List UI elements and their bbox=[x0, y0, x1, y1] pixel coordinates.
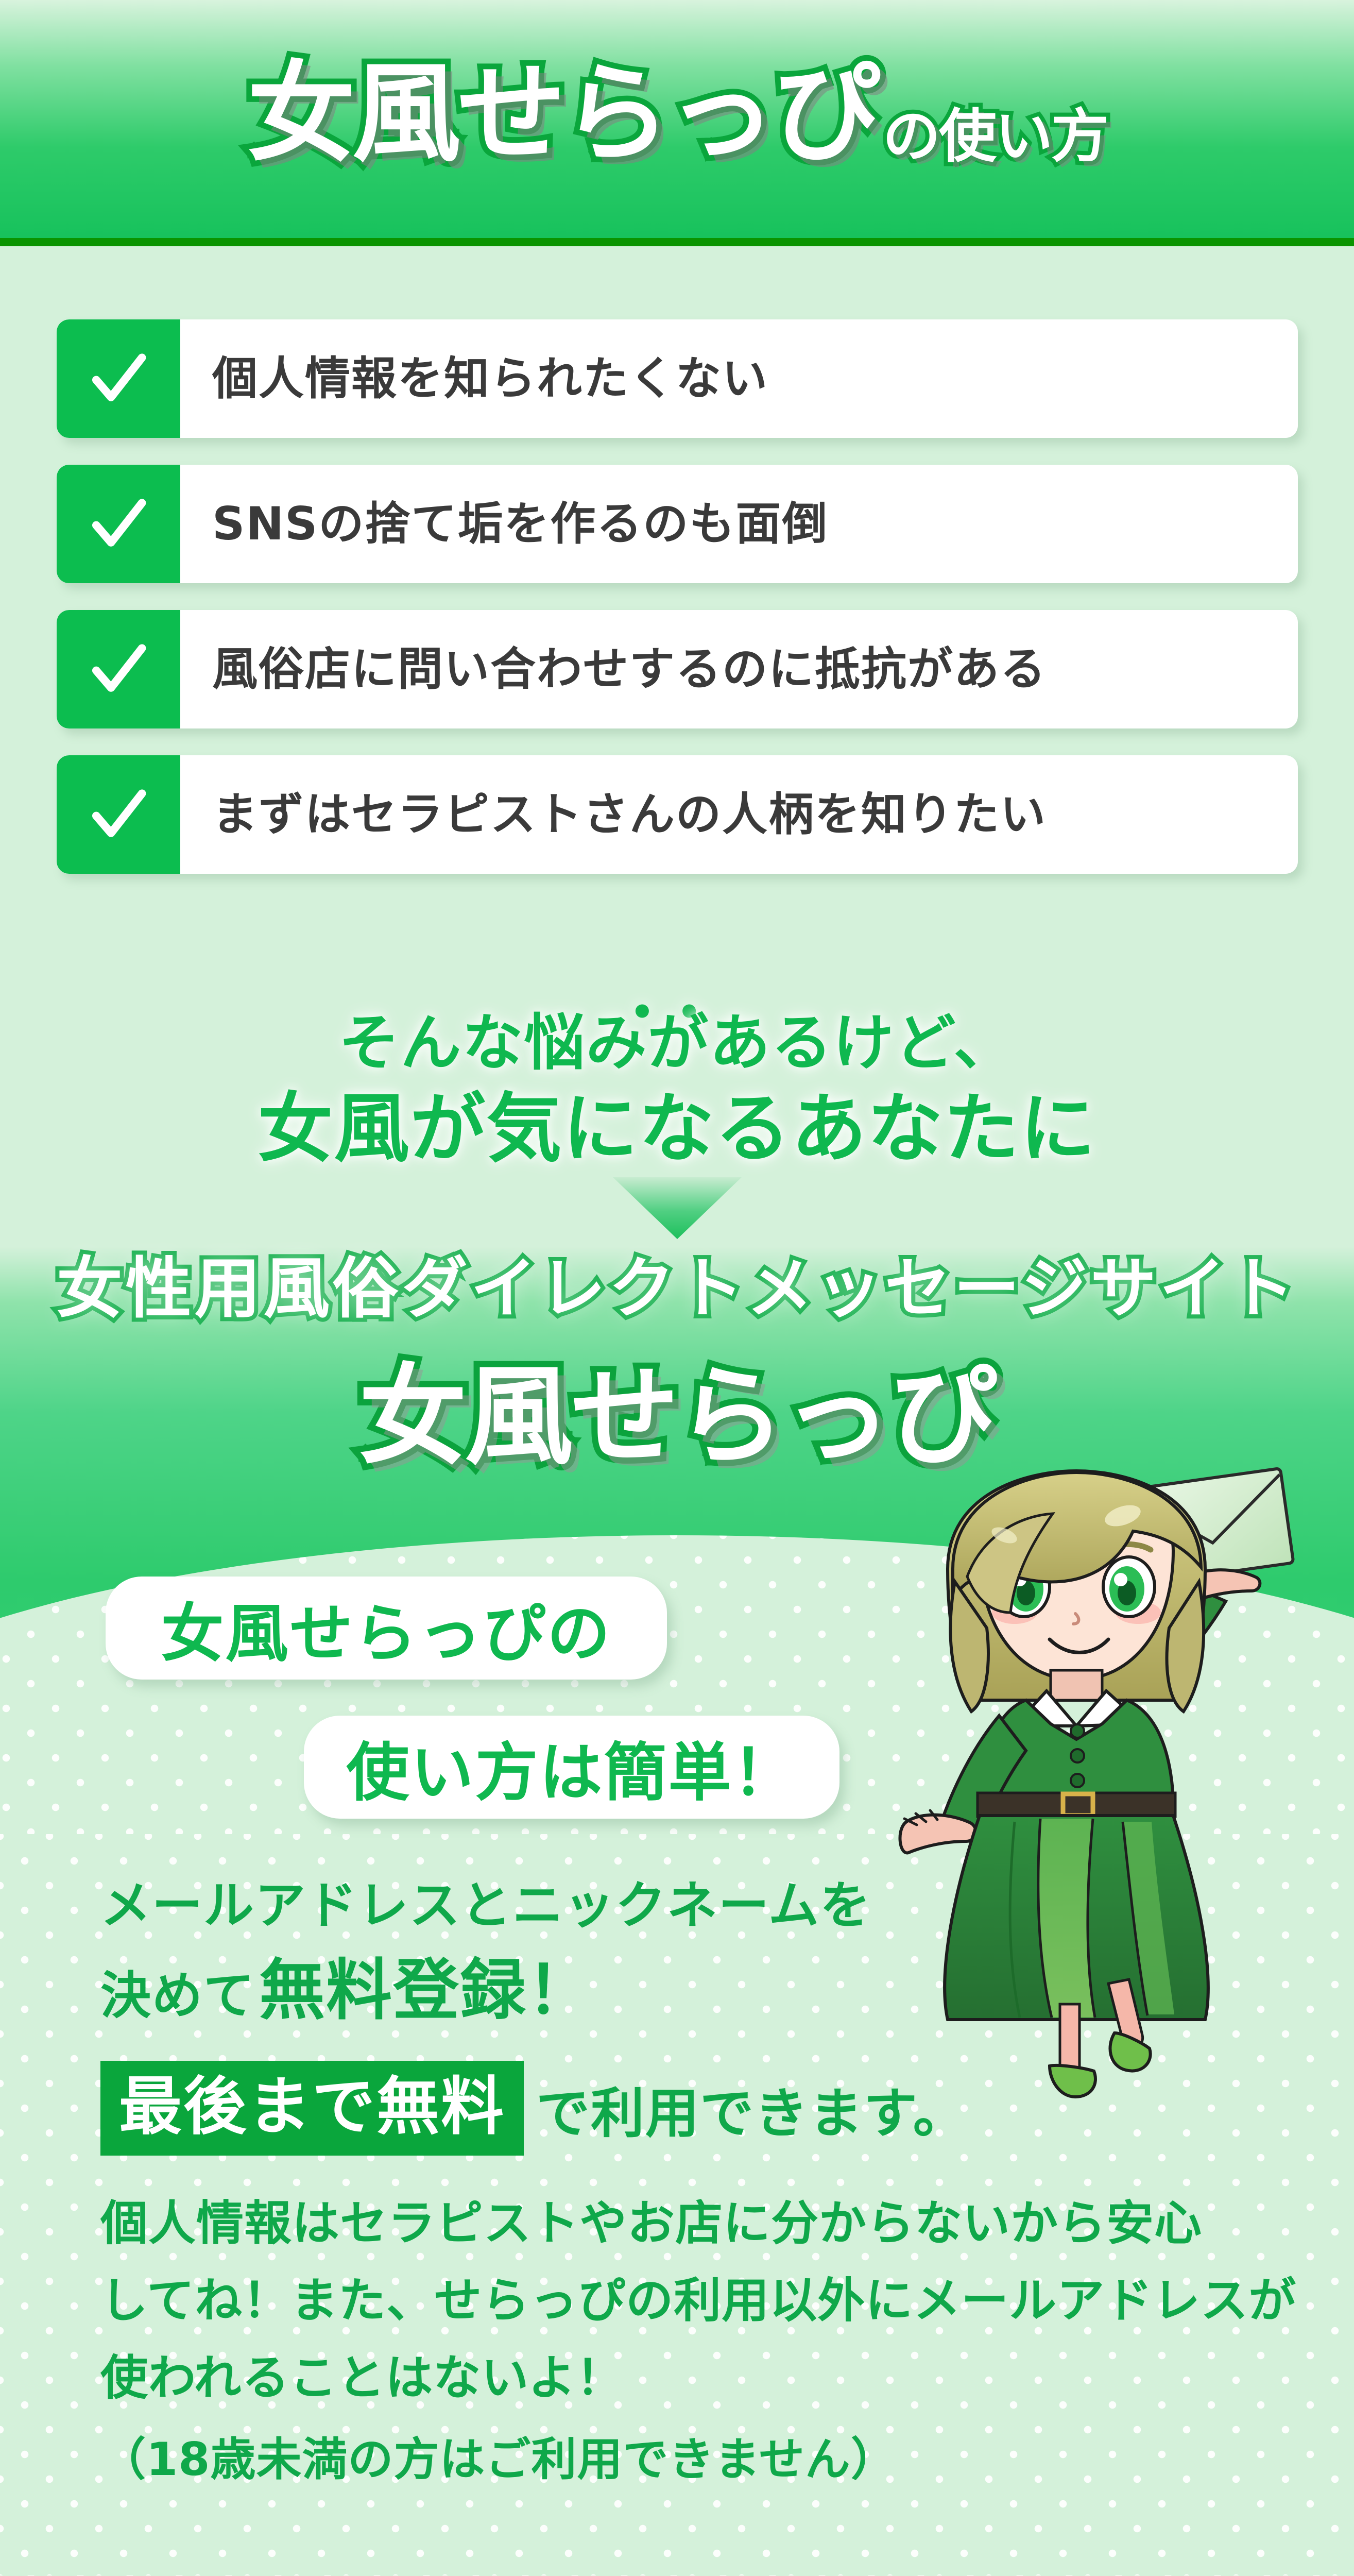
paragraph-line-1: 個人情報はセラピストやお店に分からないから安心 bbox=[100, 2200, 1202, 2247]
transition-line-1: そんな悩みがあるけど、 bbox=[0, 1012, 1354, 1073]
checklist-item-label: 風俗店に問い合わせするのに抵抗がある bbox=[180, 647, 1298, 692]
bubble-line-2: 使い方は簡単！ bbox=[304, 1716, 839, 1819]
serapi-mascot-girl bbox=[845, 1458, 1308, 2128]
paragraph-highlight-2: せらっぴの利用以外にメールアドレスが bbox=[434, 2277, 1296, 2325]
free-badge-row: 最後まで無料 で利用できます。 bbox=[100, 2061, 968, 2156]
checklist-item-label: まずはセラピストさんの人柄を知りたい bbox=[180, 792, 1298, 837]
copy-line-2-prefix: 決めて bbox=[100, 1971, 255, 2021]
checklist-item-label: SNSの捨て垢を作るのも面倒 bbox=[180, 501, 1298, 547]
copy-line-1: メールアドレスとニックネームを bbox=[100, 1880, 871, 1931]
transition-line-2: 女風が気になるあなたに bbox=[0, 1091, 1354, 1166]
check-mark-icon bbox=[57, 319, 180, 438]
paragraph-line-2: してね！また、せらっぴの利用以外にメールアドレスが bbox=[100, 2277, 1296, 2325]
checklist-item-2[interactable]: SNSの捨て垢を作るのも面倒 bbox=[57, 465, 1298, 583]
copy-line-2: 決めて無料登録！ bbox=[100, 1958, 594, 2024]
free-badge: 最後まで無料 bbox=[100, 2061, 524, 2156]
checklist-item-4[interactable]: まずはセラピストさんの人柄を知りたい bbox=[57, 755, 1298, 874]
paragraph-plain-2: してね！また、 bbox=[100, 2273, 434, 2328]
header-logo-main: 女風せらっぴ bbox=[247, 26, 878, 182]
hero-logo-title: 女風せらっぴ bbox=[0, 1360, 1354, 1474]
copy-free-register-highlight: 無料登録！ bbox=[259, 1958, 594, 2024]
check-mark-icon bbox=[57, 755, 180, 874]
check-mark-icon bbox=[57, 465, 180, 583]
eye-right bbox=[1103, 1557, 1155, 1617]
checklist-item-1[interactable]: 個人情報を知られたくない bbox=[57, 319, 1298, 438]
header-logo-suffix: の使い方 bbox=[883, 90, 1107, 173]
checklist-item-label: 個人情報を知られたくない bbox=[180, 356, 1298, 401]
bubble-line-1: 女風せらっぴの bbox=[106, 1577, 667, 1680]
paragraph-highlight-3: 使われることはないよ！ bbox=[100, 2354, 624, 2402]
header-logo: 女風せらっぴ の使い方 bbox=[247, 26, 1107, 182]
paragraph-highlight-1: 個人情報はセラピストやお店に分からないから安心 bbox=[100, 2200, 1202, 2247]
page-header: 女風せらっぴ の使い方 bbox=[0, 0, 1354, 238]
header-divider bbox=[0, 238, 1354, 246]
checklist-item-3[interactable]: 風俗店に問い合わせするのに抵抗がある bbox=[57, 610, 1298, 728]
paragraph-line-3: 使われることはないよ！ bbox=[100, 2354, 624, 2402]
hero-subtitle: 女性用風俗ダイレクトメッセージサイト bbox=[0, 1256, 1354, 1322]
paragraph-age-note: （18歳未満の方はご利用できません） bbox=[100, 2437, 897, 2482]
check-mark-icon bbox=[57, 610, 180, 728]
